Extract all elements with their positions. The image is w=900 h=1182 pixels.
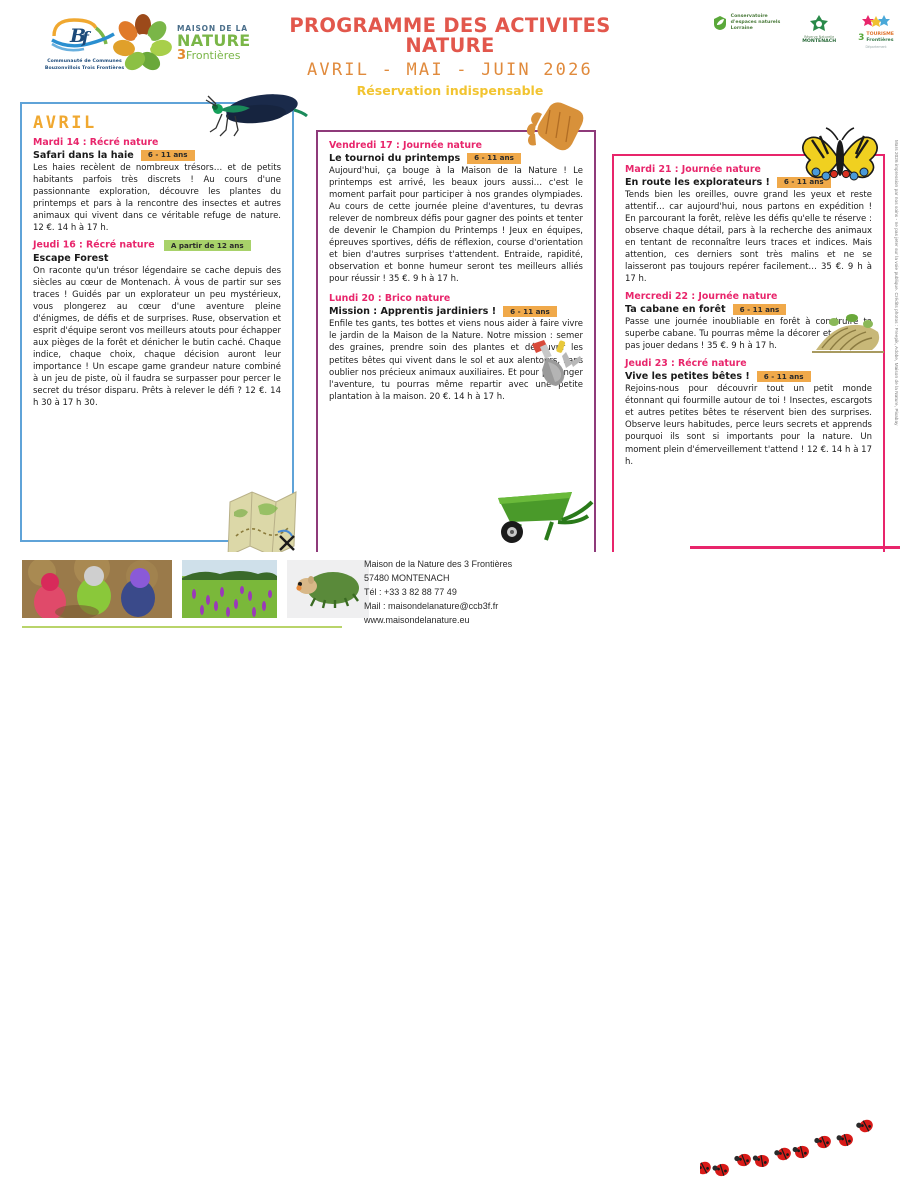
event-kind: Récré nature: [90, 137, 159, 148]
photo-orchid-meadow: [182, 560, 277, 618]
event-kind: Journée nature: [682, 164, 761, 175]
partner-tourisme: 3 TOURISME Frontières Département: [858, 14, 894, 49]
event-date: Jeudi 16: [33, 240, 76, 251]
event-sep: :: [393, 140, 403, 151]
event-title-row: Escape Forest: [33, 253, 281, 264]
event-date-kind: Jeudi 23 : Récré nature: [625, 359, 872, 370]
month-label-avril: AVRIL: [33, 113, 281, 133]
event-kind: Journée nature: [698, 291, 777, 302]
event-sep: :: [80, 137, 90, 148]
event-title: Safari dans la haie: [33, 150, 134, 161]
age-badge: 6 - 11 ans: [757, 371, 811, 382]
event-date-kind: Mardi 21 : Journée nature: [625, 165, 872, 176]
event-card[interactable]: Mardi 21 : Journée nature En route les e…: [625, 165, 872, 285]
contact-phone: Tél : +33 3 82 88 77 49: [364, 586, 512, 600]
event-kind: Récré nature: [86, 240, 155, 251]
age-badge: 6 - 11 ans: [503, 306, 557, 317]
page-header: B f Communauté de Communes Bouzonvillois…: [0, 0, 900, 95]
partner-conservatoire-text: Conservatoire d'espaces naturels Lorrain…: [731, 14, 781, 32]
photo-hedgehog-craft: [287, 560, 369, 618]
event-description: Passe une journée inoubliable en forêt à…: [625, 316, 872, 352]
event-date: Mardi 14: [33, 137, 80, 148]
event-title: Vive les petites bêtes !: [625, 371, 750, 382]
event-sep: :: [672, 164, 682, 175]
mdn-line-3: 3Frontières: [177, 49, 251, 63]
event-title-row: Mission : Apprentis jardiniers ! 6 - 11 …: [329, 306, 583, 317]
column-right: Mardi 21 : Journée nature En route les e…: [612, 154, 885, 574]
event-sep: :: [375, 293, 385, 304]
page-title: PROGRAMME DES ACTIVITES NATURE: [255, 16, 645, 57]
program-board: AVRIL Mardi 14 : Récré nature Safari dan…: [0, 92, 900, 552]
event-card[interactable]: Vendredi 17 : Journée nature Le tournoi …: [329, 141, 583, 285]
event-description: Tends bien les oreilles, ouvre grand les…: [625, 189, 872, 286]
footer-green-divider: [22, 626, 342, 628]
event-kind: Journée nature: [403, 140, 482, 151]
event-sep: :: [688, 291, 698, 302]
age-badge: 6 - 11 ans: [467, 153, 521, 164]
event-sep: :: [668, 358, 678, 369]
event-description: Les haies recèlent de nombreux trésors… …: [33, 162, 281, 234]
event-date: Lundi 20: [329, 293, 375, 304]
event-date-kind: Mercredi 22 : Journée nature: [625, 292, 872, 303]
partner-conservatoire: Conservatoire d'espaces naturels Lorrain…: [712, 14, 781, 32]
event-sep: :: [76, 240, 86, 251]
age-badge: 6 - 11 ans: [733, 304, 787, 315]
tourisme-num: 3: [858, 33, 864, 43]
event-card[interactable]: Mardi 14 : Récré nature Safari dans la h…: [33, 138, 281, 234]
mon-l2: MONTENACH: [802, 39, 836, 44]
footer-pink-divider: [690, 546, 900, 549]
partner-logos: Conservatoire d'espaces naturels Lorrain…: [712, 14, 894, 49]
tourisme-row: 3 TOURISME Frontières: [858, 32, 894, 44]
partner-montenach-text: Réserve Naturelle MONTENACH: [802, 35, 836, 46]
event-card[interactable]: Jeudi 16 : Récré nature A partir de 12 a…: [33, 240, 281, 409]
event-title-row: Le tournoi du printemps 6 - 11 ans: [329, 153, 583, 164]
event-date-kind: Jeudi 16 : Récré nature A partir de 12 a…: [33, 240, 281, 251]
tourisme-dep: Département: [865, 45, 886, 49]
event-description: Rejoins-nous pour découvrir tout un peti…: [625, 383, 872, 467]
event-card[interactable]: Mercredi 22 : Journée nature Ta cabane e…: [625, 292, 872, 352]
cen-l1: Conservatoire: [731, 14, 768, 19]
mdn-frontieres: Frontières: [186, 49, 240, 62]
event-date: Mercredi 22: [625, 291, 688, 302]
event-card[interactable]: Jeudi 23 : Récré nature Vive les petites…: [625, 359, 872, 467]
event-title: Ta cabane en forêt: [625, 304, 726, 315]
event-title-row: Ta cabane en forêt 6 - 11 ans: [625, 304, 872, 315]
event-title-row: Vive les petites bêtes ! 6 - 11 ans: [625, 371, 872, 382]
column-avril: AVRIL Mardi 14 : Récré nature Safari dan…: [20, 102, 294, 542]
age-badge: 6 - 11 ans: [141, 150, 195, 161]
star-flower-icon: [809, 14, 829, 34]
event-title: Mission : Apprentis jardiniers !: [329, 306, 496, 317]
logo-maison-de-la-nature: MAISON DE LA NATURE 3Frontières: [112, 12, 251, 74]
tourisme-text: TOURISME Frontières: [866, 32, 894, 44]
event-title: Le tournoi du printemps: [329, 153, 460, 164]
contact-postal: 57480 MONTENACH: [364, 572, 512, 586]
photo-children-foraging: [22, 560, 172, 618]
event-title-row: Safari dans la haie 6 - 11 ans: [33, 150, 281, 161]
event-description: On raconte qu'un trésor légendaire se ca…: [33, 265, 281, 410]
event-date-kind: Vendredi 17 : Journée nature: [329, 141, 583, 152]
flower-icon: [112, 12, 174, 74]
age-badge: A partir de 12 ans: [164, 240, 251, 251]
ladybugs-trail-icon: [700, 1112, 890, 1182]
age-badge: 6 - 11 ans: [777, 177, 831, 188]
title-block: PROGRAMME DES ACTIVITES NATURE AVRIL - M…: [255, 16, 645, 98]
mdn-num-3: 3: [177, 48, 186, 63]
event-kind: Récré nature: [678, 358, 747, 369]
leaf-shield-icon: [712, 15, 728, 31]
event-date: Vendredi 17: [329, 140, 393, 151]
event-date: Jeudi 23: [625, 358, 668, 369]
event-card[interactable]: Lundi 20 : Brico nature Mission : Appren…: [329, 294, 583, 402]
column-middle: Vendredi 17 : Journée nature Le tournoi …: [316, 130, 596, 570]
contact-website[interactable]: www.maisondelanature.eu: [364, 614, 512, 628]
event-title: En route les explorateurs !: [625, 177, 770, 188]
event-kind: Brico nature: [385, 293, 450, 304]
event-date-kind: Lundi 20 : Brico nature: [329, 294, 583, 305]
contact-name: Maison de la Nature des 3 Frontières: [364, 558, 512, 572]
contact-block: Maison de la Nature des 3 Frontières 574…: [364, 558, 512, 628]
tour-l2: Frontières: [866, 38, 893, 43]
mdn-line-2: NATURE: [177, 33, 251, 49]
footer-photos: [22, 560, 369, 618]
print-credit-vertical: Mars 2026 impression par nos soins - ne …: [894, 140, 899, 426]
mdn-wordmark: MAISON DE LA NATURE 3Frontières: [177, 23, 251, 62]
stars-icon: [861, 14, 891, 32]
ccb3f-mark: B f: [48, 16, 122, 58]
cen-l2: d'espaces naturels: [731, 20, 781, 25]
page-footer: Maison de la Nature des 3 Frontières 574…: [0, 552, 900, 636]
event-description: Aujourd'hui, ça bouge à la Maison de la …: [329, 165, 583, 286]
event-title-row: En route les explorateurs ! 6 - 11 ans: [625, 177, 872, 188]
cen-l3: Lorraine: [731, 26, 753, 31]
event-title: Escape Forest: [33, 253, 108, 264]
event-description: Enfile tes gants, tes bottes et viens no…: [329, 318, 583, 402]
event-date-kind: Mardi 14 : Récré nature: [33, 138, 281, 149]
page-subtitle-period: AVRIL - MAI - JUIN 2026: [255, 60, 645, 80]
partner-montenach: Réserve Naturelle MONTENACH: [802, 14, 836, 46]
contact-mail[interactable]: Mail : maisondelanature@ccb3f.fr: [364, 600, 512, 614]
event-date: Mardi 21: [625, 164, 672, 175]
